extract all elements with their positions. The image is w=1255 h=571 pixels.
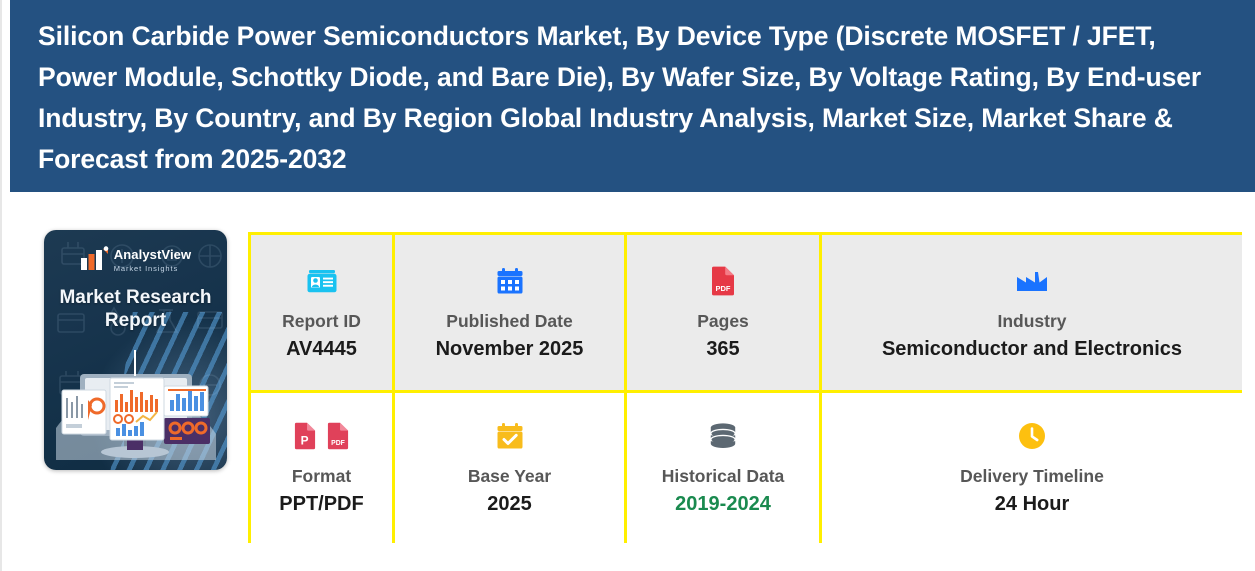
meta-label: Pages [697,310,749,332]
report-overview-page: Silicon Carbide Power Semiconductors Mar… [0,0,1255,571]
meta-label: Industry [997,310,1066,332]
meta-value: Semiconductor and Electronics [882,337,1182,362]
meta-cell-published-date: Published Date November 2025 [395,235,627,393]
meta-cell-format: P PDF Format PPT/PDF [251,393,395,543]
ppt-file-icon: P [294,422,316,450]
report-title-banner: Silicon Carbide Power Semiconductors Mar… [10,0,1255,198]
meta-label: Delivery Timeline [960,465,1104,487]
meta-cell-base-year: Base Year 2025 [395,393,627,543]
svg-text:PDF: PDF [716,284,731,293]
meta-value: 365 [706,337,739,362]
meta-value: AV4445 [286,337,357,362]
database-icon [709,419,737,453]
calendar-check-icon [496,419,524,453]
meta-value: 2019-2024 [675,492,771,517]
meta-cell-delivery-timeline: Delivery Timeline 24 Hour [822,393,1242,543]
report-cover-image[interactable]: AnalystView Market Insights Market Resea… [44,230,227,470]
id-card-icon [307,264,337,298]
meta-label: Base Year [468,465,551,487]
svg-text:P: P [301,433,309,447]
cover-heading: Market Research Report [44,286,227,332]
meta-label: Report ID [282,310,361,332]
analystview-logo: AnalystView Market Insights [44,246,227,277]
bar-chart-logo-icon [80,246,110,272]
meta-value: 2025 [487,492,532,517]
meta-value: November 2025 [436,337,584,362]
page-title: Silicon Carbide Power Semiconductors Mar… [38,16,1217,180]
svg-text:PDF: PDF [331,440,345,447]
meta-value: PPT/PDF [279,492,363,517]
meta-label: Format [292,465,351,487]
meta-cell-historical-data: Historical Data 2019-2024 [627,393,822,543]
cover-heading-line1: Market Research [44,286,227,309]
cover-heading-line2: Report [44,309,227,332]
logo-brand-name: AnalystView [114,247,191,262]
meta-value: 24 Hour [995,492,1069,517]
meta-label: Published Date [446,310,572,332]
ppt-and-pdf-file-icon: P PDF [294,419,349,453]
factory-icon [1016,264,1048,298]
clock-icon [1018,419,1046,453]
logo-tagline: Market Insights [114,265,191,273]
meta-cell-pages: PDF Pages 365 [627,235,822,393]
report-body: AnalystView Market Insights Market Resea… [10,192,1255,571]
meta-label: Historical Data [662,465,785,487]
report-meta-grid: Report ID AV4445 Publ [248,232,1242,543]
pdf-file-icon: PDF [711,264,735,298]
meta-cell-report-id: Report ID AV4445 [251,235,395,393]
monitor-with-charts-illustration [44,342,227,464]
meta-cell-industry: Industry Semiconductor and Electronics [822,235,1242,393]
pdf-file-icon: PDF [327,422,349,450]
calendar-icon [496,264,524,298]
